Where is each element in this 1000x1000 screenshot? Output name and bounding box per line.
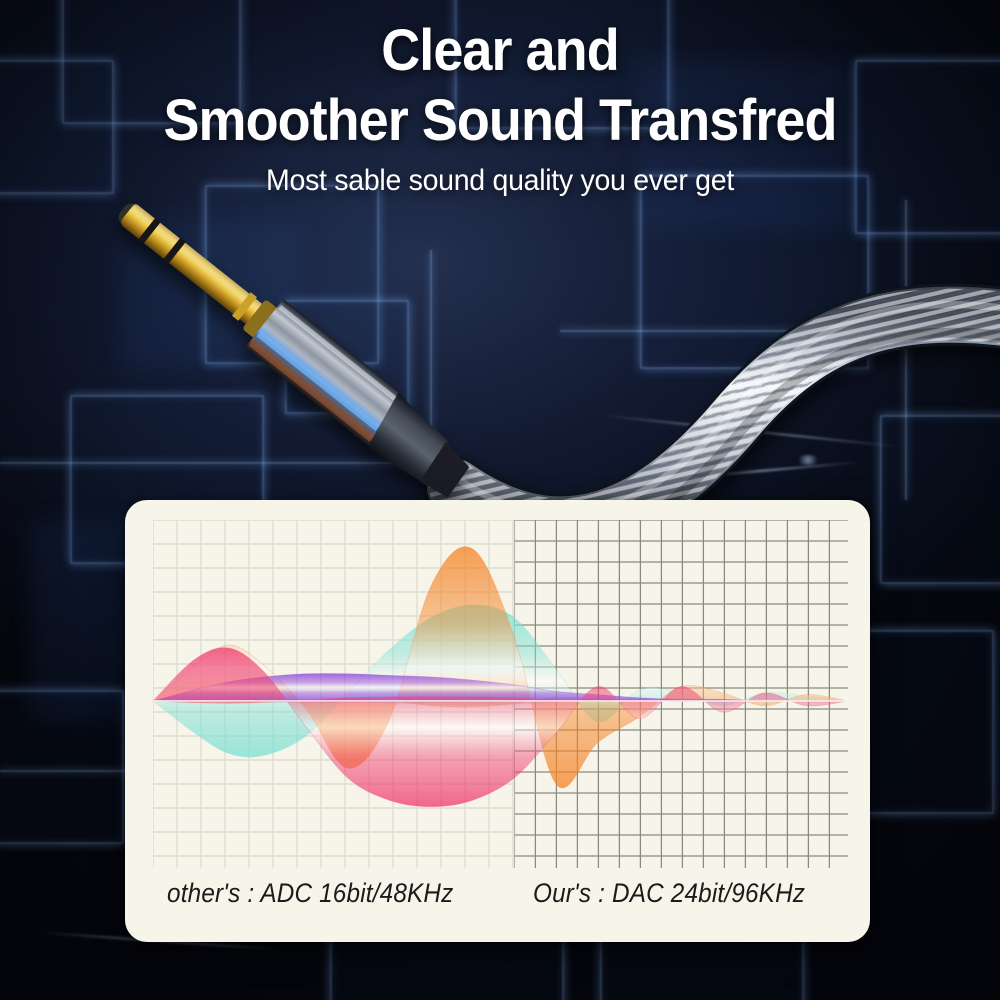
chart-legend: other's : ADC 16bit/48KHz Our's : DAC 24… <box>125 878 870 938</box>
3.5mm-audio-jack-connector <box>101 186 480 506</box>
waveform-chart <box>125 500 870 890</box>
waveform-plot-svg <box>125 500 870 890</box>
legend-label-ours: Our's : DAC 24bit/96KHz <box>533 878 805 909</box>
product-marketing-image: Clear and Smoother Sound Transfred Most … <box>0 0 1000 1000</box>
headline-subtitle: Most sable sound quality you ever get <box>25 163 975 199</box>
comparison-card: other's : ADC 16bit/48KHz Our's : DAC 24… <box>125 500 870 942</box>
headline-line-2: Smoother Sound Transfred <box>35 90 965 152</box>
legend-label-others: other's : ADC 16bit/48KHz <box>167 878 453 909</box>
headline-line-1: Clear and <box>35 20 965 82</box>
